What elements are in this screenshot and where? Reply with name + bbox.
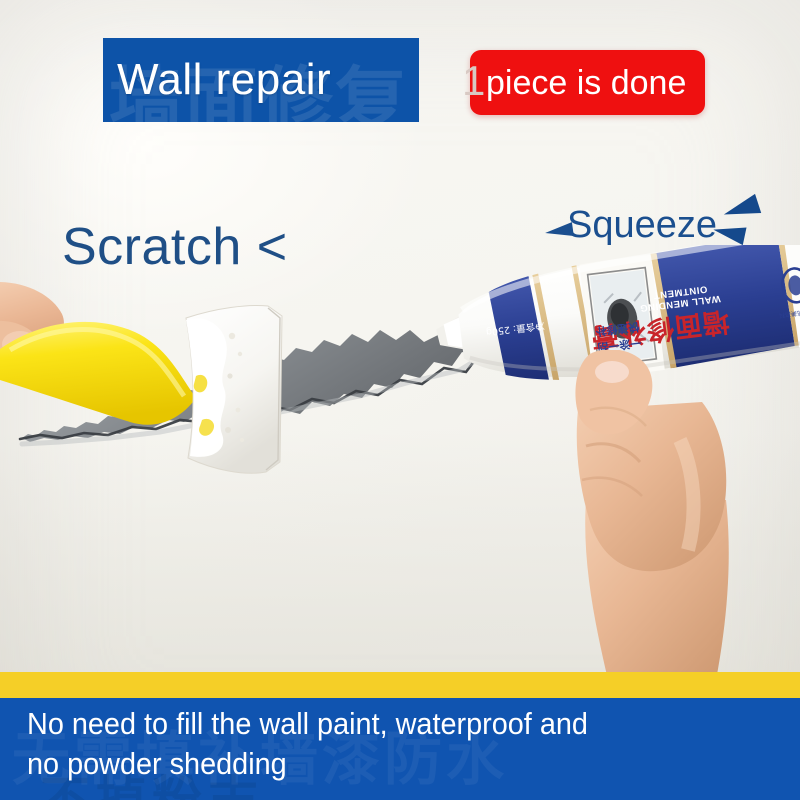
- footer-yellow-stripe: [0, 672, 800, 698]
- headline-primary-box: 墙面修复 Wall repair: [103, 38, 419, 122]
- callout-scratch: Scratch <: [62, 221, 288, 273]
- putty-scraper: [0, 280, 320, 510]
- callout-squeeze-label: Squeeze: [567, 206, 717, 246]
- headline-secondary-prefix: 1: [462, 57, 485, 105]
- footer-text: No need to fill the wall paint, waterpro…: [27, 704, 715, 785]
- footer-line-1: No need to fill the wall paint, waterpro…: [27, 704, 715, 744]
- headline-secondary-box: piece is done: [470, 50, 705, 115]
- right-hand-holding-tube: [560, 350, 800, 680]
- footer-line-2: no powder shedding: [27, 744, 715, 784]
- headline-secondary-label: piece is done: [470, 66, 686, 100]
- advertisement-canvas: 墙面修补膏 WALL MENDING OINTMENT 一涂一刮 快速修补 净含…: [0, 0, 800, 800]
- footer-blue-band: 无需填补墙漆防水 不掉粉末 No need to fill the wall p…: [0, 698, 800, 800]
- headline-primary-label: Wall repair: [103, 58, 331, 102]
